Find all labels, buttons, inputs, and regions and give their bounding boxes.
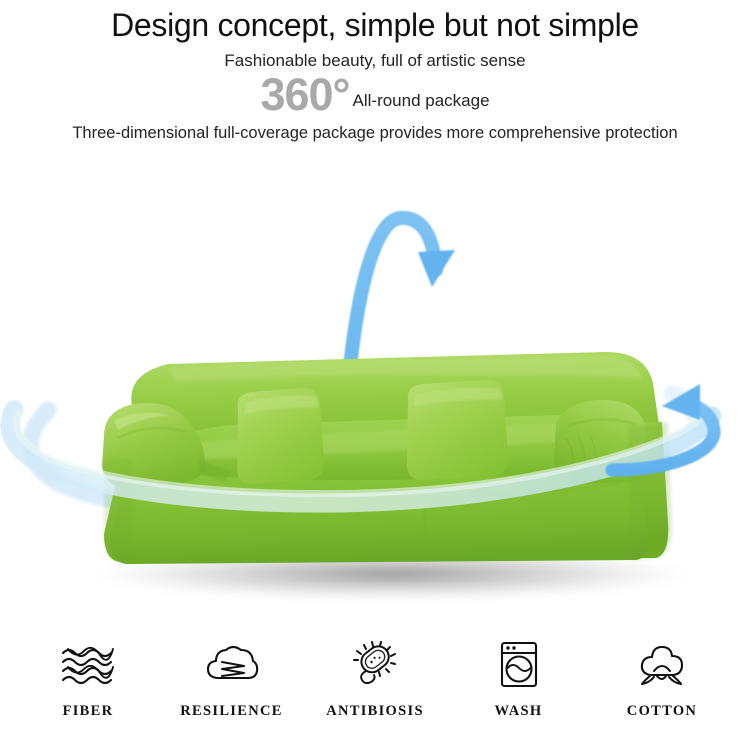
feature-item-antibiosis: ANTIBIOSIS (309, 636, 441, 720)
fiber-waves-icon (60, 636, 116, 694)
cotton-boll-icon (635, 636, 689, 694)
feature-label: COTTON (627, 703, 697, 720)
feature-label: FIBER (63, 703, 114, 720)
page-tagline: Three-dimensional full-coverage package … (0, 124, 750, 143)
product-marketing-image: Design concept, simple but not simple Fa… (0, 0, 750, 750)
round-degrees-value: 360° (260, 73, 349, 117)
feature-item-wash: WASH (453, 636, 585, 720)
washing-machine-icon (495, 636, 543, 694)
round-coverage-row: 360° All-round package (0, 73, 750, 117)
feature-item-resilience: RESILIENCE (166, 636, 298, 720)
bacteria-icon (349, 636, 401, 694)
feature-label: ANTIBIOSIS (326, 703, 424, 720)
round-coverage-label: All-round package (353, 91, 490, 111)
page-title: Design concept, simple but not simple (0, 9, 750, 41)
hero-illustration (0, 170, 750, 625)
feature-strip: FIBER RESILIENCE (0, 636, 750, 750)
feature-item-cotton: COTTON (596, 636, 728, 720)
header-text-block: Design concept, simple but not simple Fa… (0, 0, 750, 143)
page-subtitle: Fashionable beauty, full of artistic sen… (0, 51, 750, 71)
cloud-spring-icon (204, 636, 260, 694)
feature-label: RESILIENCE (180, 703, 282, 720)
feature-label: WASH (495, 703, 543, 720)
feature-item-fiber: FIBER (22, 636, 154, 720)
